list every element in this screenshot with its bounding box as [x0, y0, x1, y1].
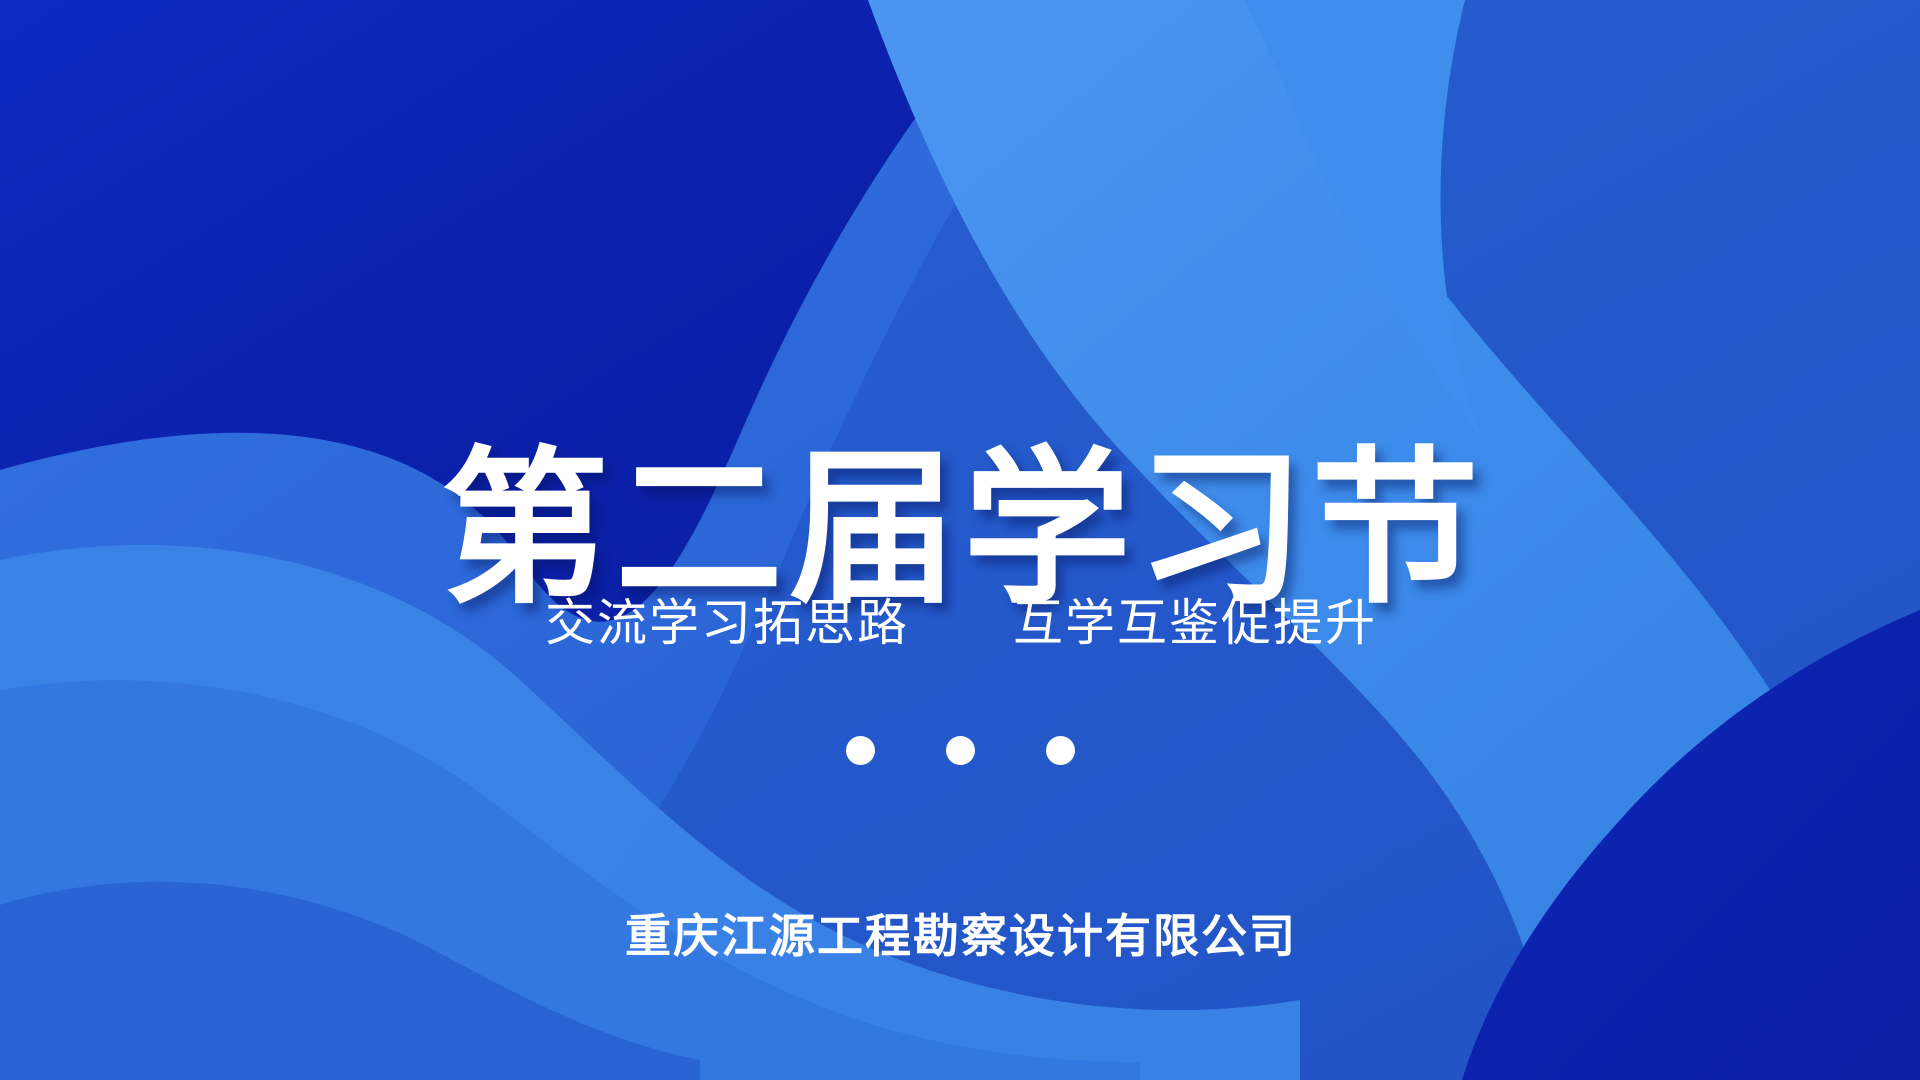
poster-subtitle: 交流学习拓思路 互学互鉴促提升 — [0, 592, 1920, 655]
poster-title: 第二届学习节 — [0, 445, 1920, 613]
poster-canvas: 第二届学习节 交流学习拓思路 互学互鉴促提升 重庆江源工程勘察设计有限公司 — [0, 0, 1920, 1080]
company-name: 重庆江源工程勘察设计有限公司 — [0, 900, 1920, 966]
dot-icon — [1046, 736, 1075, 765]
decorative-dots — [0, 736, 1920, 765]
dot-icon — [946, 736, 975, 765]
dot-icon — [846, 736, 875, 765]
